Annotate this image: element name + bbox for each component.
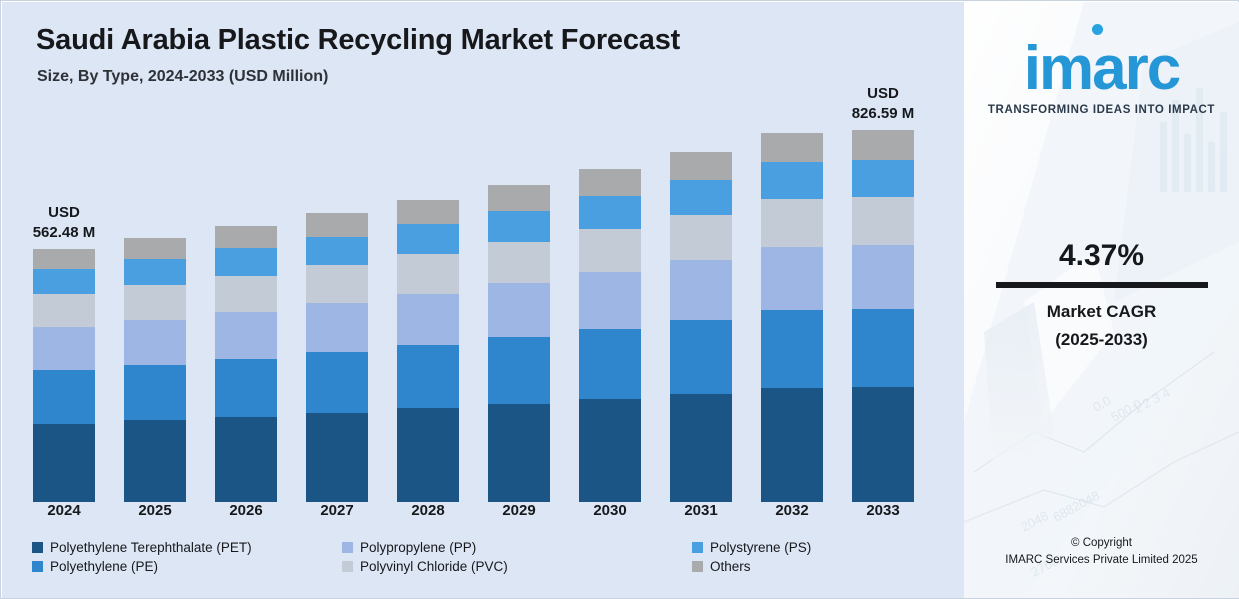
bar-value-label-unit: USD — [830, 84, 936, 104]
bar-segment — [306, 265, 368, 302]
bar-value-label-amount: 562.48 M — [11, 223, 117, 243]
x-tick-label: 2024 — [33, 502, 95, 519]
bar-value-label-amount: 826.59 M — [830, 104, 936, 124]
bar-segment — [124, 238, 186, 259]
legend-swatch-icon — [32, 542, 43, 553]
cagr-divider — [996, 282, 1208, 288]
bar-segment — [33, 294, 95, 327]
bar-segment — [33, 370, 95, 423]
bar-segment — [215, 276, 277, 312]
chart-panel: Saudi Arabia Plastic Recycling Market Fo… — [2, 2, 964, 598]
x-tick-label: 2033 — [852, 502, 914, 519]
legend-item[interactable]: Polystyrene (PS) — [692, 540, 811, 555]
bar-segment — [761, 310, 823, 388]
bar-segment — [215, 417, 277, 503]
bar-2033[interactable] — [852, 130, 914, 502]
bar-segment — [670, 394, 732, 503]
bar-segment — [33, 424, 95, 502]
legend-label: Others — [710, 559, 751, 574]
bar-segment — [397, 294, 459, 345]
bar-2032[interactable] — [761, 133, 823, 502]
bar-segment — [33, 249, 95, 269]
legend-item[interactable]: Others — [692, 559, 751, 574]
bar-2029[interactable] — [488, 185, 550, 502]
legend-label: Polyvinyl Chloride (PVC) — [360, 559, 508, 574]
bar-segment — [579, 196, 641, 229]
bar-segment — [488, 283, 550, 337]
bar-segment — [579, 399, 641, 502]
bar-segment — [852, 130, 914, 160]
bar-segment — [488, 185, 550, 210]
branding-panel: 500.0 0.0 1 2 3 4 2048 6882048 2768 imar… — [964, 2, 1239, 598]
bar-segment — [306, 213, 368, 236]
legend-label: Polyethylene (PE) — [50, 559, 158, 574]
bar-2028[interactable] — [397, 200, 459, 502]
bar-segment — [124, 259, 186, 285]
bar-segment — [761, 133, 823, 163]
x-tick-label: 2032 — [761, 502, 823, 519]
bar-2031[interactable] — [670, 152, 732, 502]
page-title: Saudi Arabia Plastic Recycling Market Fo… — [36, 24, 680, 57]
bar-segment — [397, 254, 459, 293]
bar-segment — [761, 199, 823, 247]
legend-row: Polyethylene (PE)Polyvinyl Chloride (PVC… — [32, 559, 942, 579]
bar-segment — [488, 337, 550, 404]
bar-segment — [852, 197, 914, 245]
bar-segment — [488, 404, 550, 502]
bar-segment — [215, 359, 277, 417]
bar-segment — [488, 242, 550, 283]
legend-label: Polypropylene (PP) — [360, 540, 476, 555]
bar-segment — [761, 247, 823, 310]
bar-segment — [670, 215, 732, 260]
legend-item[interactable]: Polyethylene Terephthalate (PET) — [32, 540, 252, 555]
legend-label: Polystyrene (PS) — [710, 540, 811, 555]
bar-segment — [670, 152, 732, 180]
x-tick-label: 2031 — [670, 502, 732, 519]
legend-item[interactable]: Polyethylene (PE) — [32, 559, 158, 574]
legend-label: Polyethylene Terephthalate (PET) — [50, 540, 252, 555]
x-tick-label: 2026 — [215, 502, 277, 519]
legend-swatch-icon — [32, 561, 43, 572]
x-tick-label: 2030 — [579, 502, 641, 519]
legend-swatch-icon — [342, 542, 353, 553]
bar-segment — [215, 226, 277, 248]
logo-wordmark: imarc — [964, 38, 1239, 100]
bar-segment — [33, 327, 95, 370]
bar-segment — [306, 352, 368, 413]
bar-segment — [215, 312, 277, 359]
bar-segment — [397, 345, 459, 408]
bar-segment — [306, 303, 368, 352]
bar-segment — [397, 408, 459, 502]
bar-segment — [852, 245, 914, 308]
legend-swatch-icon — [692, 561, 703, 572]
bar-segment — [397, 224, 459, 254]
logo-tagline: TRANSFORMING IDEAS INTO IMPACT — [964, 104, 1239, 116]
bar-2025[interactable] — [124, 238, 186, 502]
x-tick-label: 2028 — [397, 502, 459, 519]
cagr-value: 4.37% — [964, 239, 1239, 273]
bar-segment — [33, 269, 95, 294]
bar-2026[interactable] — [215, 226, 277, 502]
bar-value-label-2033: USD826.59 M — [830, 84, 936, 124]
bar-segment — [761, 162, 823, 199]
cagr-period: (2025-2033) — [964, 330, 1239, 350]
legend-swatch-icon — [342, 561, 353, 572]
chart-legend: Polyethylene Terephthalate (PET)Polyprop… — [32, 540, 942, 588]
bar-segment — [670, 180, 732, 215]
bar-segment — [306, 237, 368, 266]
bar-segment — [124, 320, 186, 365]
bar-segment — [579, 329, 641, 399]
bar-segment — [579, 169, 641, 196]
legend-swatch-icon — [692, 542, 703, 553]
legend-row: Polyethylene Terephthalate (PET)Polyprop… — [32, 540, 942, 560]
bar-segment — [215, 248, 277, 276]
bar-segment — [852, 160, 914, 197]
imarc-logo: imarc TRANSFORMING IDEAS INTO IMPACT — [964, 16, 1239, 116]
bar-2027[interactable] — [306, 213, 368, 502]
x-tick-label: 2025 — [124, 502, 186, 519]
x-axis: 2024202520262027202820292030203120322033 — [2, 502, 964, 532]
copyright-line-1: © Copyright — [964, 537, 1239, 549]
bar-value-label-2024: USD562.48 M — [11, 203, 117, 243]
x-tick-label: 2027 — [306, 502, 368, 519]
cagr-label: Market CAGR — [964, 302, 1239, 322]
bar-segment — [306, 413, 368, 502]
bar-segment — [579, 229, 641, 272]
bar-segment — [397, 200, 459, 224]
legend-item[interactable]: Polypropylene (PP) — [342, 540, 476, 555]
bar-segment — [670, 320, 732, 394]
copyright-line-2: IMARC Services Private Limited 2025 — [964, 554, 1239, 566]
legend-item[interactable]: Polyvinyl Chloride (PVC) — [342, 559, 508, 574]
bar-segment — [670, 260, 732, 320]
bar-segment — [488, 211, 550, 243]
bar-segment — [852, 387, 914, 502]
chart-subtitle: Size, By Type, 2024-2033 (USD Million) — [37, 68, 328, 86]
x-tick-label: 2029 — [488, 502, 550, 519]
bar-2024[interactable] — [33, 249, 95, 502]
bar-value-label-unit: USD — [11, 203, 117, 223]
bar-segment — [124, 365, 186, 420]
bar-segment — [124, 285, 186, 319]
bar-2030[interactable] — [579, 169, 641, 502]
chart-page: Saudi Arabia Plastic Recycling Market Fo… — [0, 0, 1239, 599]
bar-segment — [124, 420, 186, 502]
bar-segment — [579, 272, 641, 329]
plot-area: USD562.48 MUSD826.59 M — [2, 102, 964, 502]
bar-segment — [761, 388, 823, 502]
bar-segment — [852, 309, 914, 387]
